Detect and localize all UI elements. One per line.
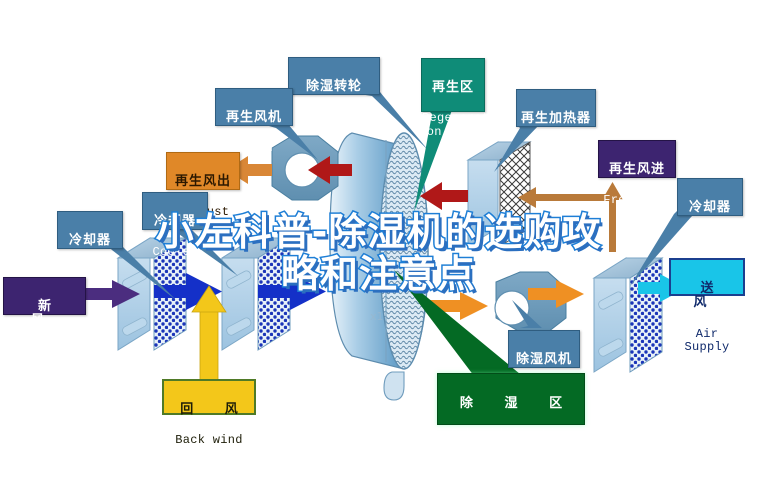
label-cn: 新 风 [4, 299, 85, 328]
label-regeneration-fresh-air: 再生风进 Fresh Air [598, 140, 676, 178]
label-cn: 冷却器 [143, 214, 207, 229]
svg-text:x1: x1 [370, 310, 384, 323]
label-en: heater [517, 143, 595, 156]
label-fresh-air: 新 风 Fresh Air [3, 277, 86, 315]
label-cooler-left-1: 冷却器 Cooler [57, 211, 123, 249]
regen-hot-arrow-2 [420, 182, 468, 210]
label-cn: 除湿风机 [509, 352, 579, 367]
label-cn: 送 风 [671, 281, 743, 310]
label-cn: 除 湿 区 [438, 396, 584, 411]
label-en: Back wind [164, 434, 254, 447]
label-cn: 除湿转轮 [289, 79, 379, 94]
label-cn: 冷却器 [678, 200, 742, 215]
label-back-wind: 回 风 Back wind [162, 379, 256, 415]
label-exhaust: 再生风出 Exhaust [166, 152, 240, 190]
label-en: Cooler [143, 246, 207, 259]
label-cn: 回 风 [164, 402, 254, 417]
label-en: Fresh Air [4, 346, 85, 359]
label-en: Dehumidification District [438, 428, 584, 455]
label-dehumidification-district: 除 湿 区 Dehumidification District [437, 373, 585, 425]
cooler-coil-3 [594, 258, 662, 372]
label-en: Regenerati on Area [422, 112, 484, 139]
label-dehumidification-blower: 除湿风机 Blower [508, 330, 580, 368]
label-cn: 再生风进 [599, 162, 675, 177]
label-cn: 再生风机 [216, 110, 292, 125]
label-en: Air Supply [671, 328, 743, 355]
label-regeneration-blower: 再生风机 Blower [215, 88, 293, 126]
label-regeneration-heater: 再生加热器 heater [516, 89, 596, 127]
label-cn: 再生加热器 [517, 111, 595, 126]
label-cn: 再生区 [422, 80, 484, 95]
label-cooler-right: 冷却器 Cooler [677, 178, 743, 216]
label-regeneration-area: 再生区 Regenerati on Area [421, 58, 485, 112]
label-cn: 再生风出 [167, 174, 239, 189]
label-cooler-left-2: 冷却器 Cooler [142, 192, 208, 230]
label-cn: 冷却器 [58, 233, 122, 248]
label-en: Fresh Air [599, 194, 675, 207]
diagram-canvas: x1 [0, 0, 757, 488]
label-air-supply: 送 风 Air Supply [669, 258, 745, 296]
condensate-drip [384, 372, 404, 400]
label-desiccant-wheel: 除湿转轮 Desiccant [288, 57, 380, 95]
label-en: Cooler [678, 232, 742, 245]
label-en: Desiccant [289, 111, 379, 124]
